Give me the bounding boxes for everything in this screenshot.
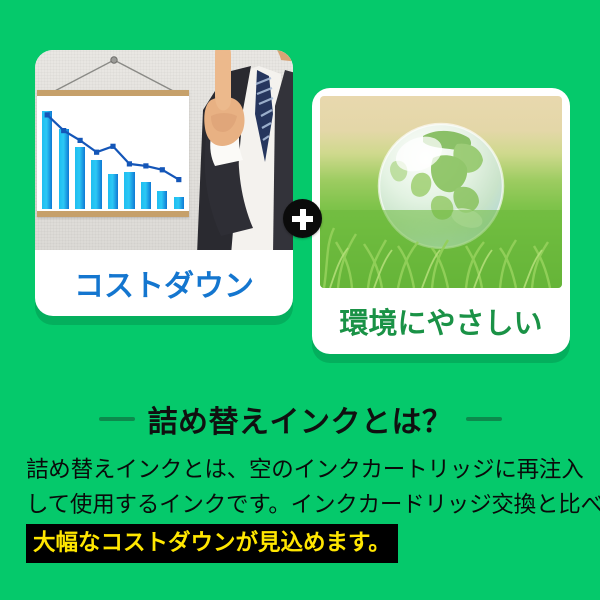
whiteboard-surface [37, 96, 189, 211]
body-copy-highlight: 大幅なコストダウンが見込めます。 [26, 524, 398, 563]
promo-banner: コストダウン [0, 0, 600, 600]
card-eco-friendly-label: 環境にやさしい [312, 288, 570, 354]
glass-globe-grass-photo [320, 96, 562, 288]
plus-vertical-bar [300, 209, 306, 230]
heading-rule-left [99, 417, 135, 421]
body-copy-line-2: して使用するインクです。インクカードリッジ交換と比べ [26, 487, 574, 522]
card-cost-down[interactable]: コストダウン [35, 50, 293, 316]
businessman-pointing-figure [181, 50, 293, 250]
grass-blades [320, 170, 562, 288]
picture-hanger-icon [43, 54, 185, 94]
trend-line [37, 96, 189, 211]
heading-title: 詰め替えインクとは？ [148, 397, 453, 441]
bar-chart-businessman-photo [35, 50, 293, 250]
plus-icon [283, 199, 322, 238]
whiteboard-frame [37, 90, 189, 217]
section-heading: 詰め替えインクとは？ [0, 398, 600, 440]
heading-rule-right [466, 417, 502, 421]
card-cost-down-label: コストダウン [35, 250, 293, 316]
card-eco-friendly[interactable]: 環境にやさしい [312, 88, 570, 354]
body-copy-line-1: 詰め替えインクとは、空のインクカートリッジに再注入 [26, 452, 574, 487]
body-copy: 詰め替えインクとは、空のインクカートリッジに再注入 して使用するインクです。イン… [26, 452, 574, 563]
